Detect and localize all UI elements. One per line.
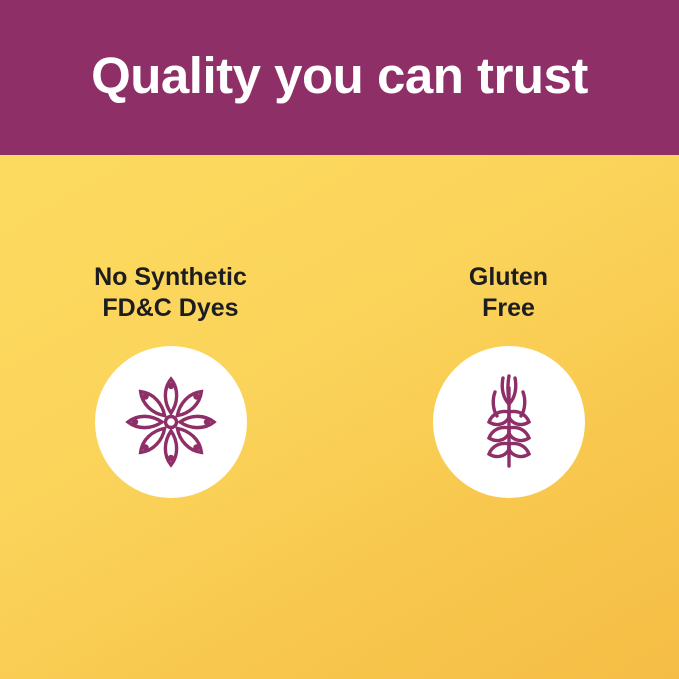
feature-no-synthetic-dyes: No Synthetic FD&C Dyes [71, 262, 271, 498]
feature-gluten-free: Gluten Free [409, 262, 609, 498]
feature-badge [95, 346, 247, 498]
header-band: Quality you can trust [0, 0, 679, 155]
feature-label: No Synthetic FD&C Dyes [94, 262, 247, 324]
promo-poster: Quality you can trust No Synthetic FD&C … [0, 0, 679, 679]
page-title: Quality you can trust [91, 50, 588, 101]
wheat-stalk-icon [459, 370, 559, 474]
feature-list: No Synthetic FD&C Dyes [0, 262, 679, 498]
feature-label: Gluten Free [469, 262, 548, 324]
dye-splash-flower-icon [119, 370, 223, 474]
feature-badge [433, 346, 585, 498]
